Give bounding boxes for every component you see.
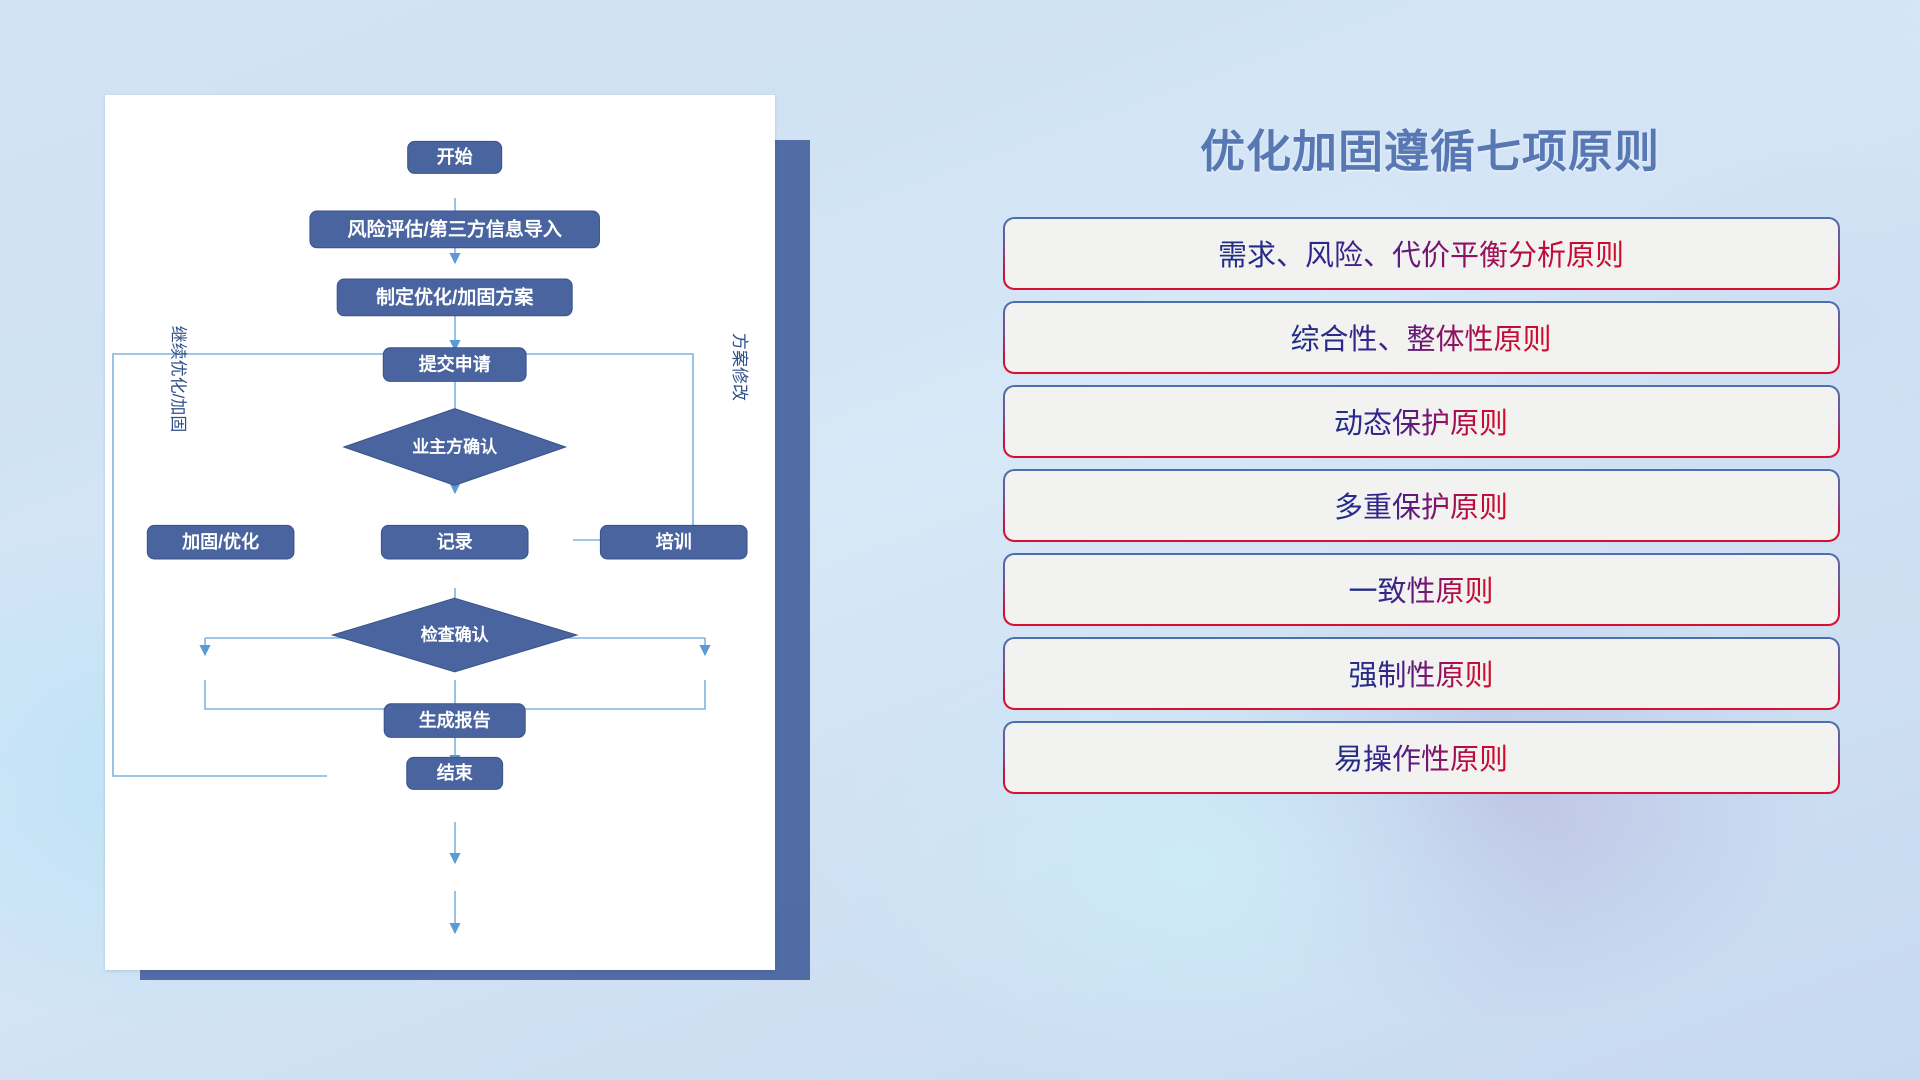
principle-box-6[interactable]: 强制性原则	[1004, 638, 1838, 708]
flow-node-label: 风险评估/第三方信息导入	[348, 217, 562, 240]
flow-node-label: 加固/优化	[181, 531, 259, 552]
principle-box-5[interactable]: 一致性原则	[1004, 554, 1838, 624]
flow-node-end: 结束	[407, 757, 503, 789]
flow-node-label: 培训	[656, 531, 692, 552]
flowchart-svg: 开始风险评估/第三方信息导入制定优化/加固方案提交申请业主方确认加固/优化记录培…	[105, 95, 775, 970]
principle-box-4[interactable]: 多重保护原则	[1004, 470, 1838, 540]
principle-label: 需求、风险、代价平衡分析原则	[1218, 232, 1624, 274]
flowchart-card: 开始风险评估/第三方信息导入制定优化/加固方案提交申请业主方确认加固/优化记录培…	[105, 95, 775, 970]
flow-node-label: 结束	[437, 762, 474, 783]
flow-node-plan: 制定优化/加固方案	[337, 279, 572, 316]
flow-node-check: 检查确认	[333, 598, 577, 672]
flow-node-record: 记录	[381, 525, 528, 559]
flow-node-label: 业主方确认	[412, 436, 498, 456]
flow-node-reinforce: 加固/优化	[147, 525, 294, 559]
flow-node-label: 制定优化/加固方案	[376, 285, 534, 308]
flow-node-owner: 业主方确认	[344, 409, 566, 486]
flow-node-risk: 风险评估/第三方信息导入	[310, 211, 600, 248]
flow-node-label: 记录	[437, 532, 473, 552]
flow-node-training: 培训	[600, 525, 747, 559]
principle-label: 综合性、整体性原则	[1290, 316, 1551, 358]
flow-node-submit: 提交申请	[383, 348, 526, 382]
principle-label: 一致性原则	[1348, 568, 1493, 610]
flowchart-nodes: 开始风险评估/第三方信息导入制定优化/加固方案提交申请业主方确认加固/优化记录培…	[147, 141, 747, 789]
principle-box-1[interactable]: 需求、风险、代价平衡分析原则	[1004, 218, 1838, 288]
principles-panel: 优化加固遵循七项原则 需求、风险、代价平衡分析原则综合性、整体性原则动态保护原则…	[1000, 95, 1860, 995]
principle-label: 动态保护原则	[1334, 400, 1508, 442]
flow-node-label: 生成报告	[419, 709, 491, 730]
principle-box-2[interactable]: 综合性、整体性原则	[1004, 302, 1838, 372]
principle-box-3[interactable]: 动态保护原则	[1004, 386, 1838, 456]
principle-label: 强制性原则	[1348, 652, 1493, 694]
flow-node-label: 提交申请	[419, 353, 491, 374]
flow-node-label: 开始	[437, 146, 473, 167]
flow-node-report: 生成报告	[384, 704, 525, 738]
principle-list: 需求、风险、代价平衡分析原则综合性、整体性原则动态保护原则多重保护原则一致性原则…	[1000, 218, 1860, 792]
slide-canvas: 开始风险评估/第三方信息导入制定优化/加固方案提交申请业主方确认加固/优化记录培…	[0, 0, 1920, 1080]
principle-box-7[interactable]: 易操作性原则	[1004, 722, 1838, 792]
right-loop-label: 方案修改	[730, 333, 749, 401]
principle-label: 多重保护原则	[1334, 484, 1508, 526]
page-title: 优化加固遵循七项原则	[1000, 115, 1860, 180]
flow-node-label: 检查确认	[421, 624, 490, 644]
left-loop-label: 继续优化/加固	[169, 326, 188, 433]
principle-label: 易操作性原则	[1334, 736, 1508, 778]
flow-node-start: 开始	[408, 141, 502, 173]
